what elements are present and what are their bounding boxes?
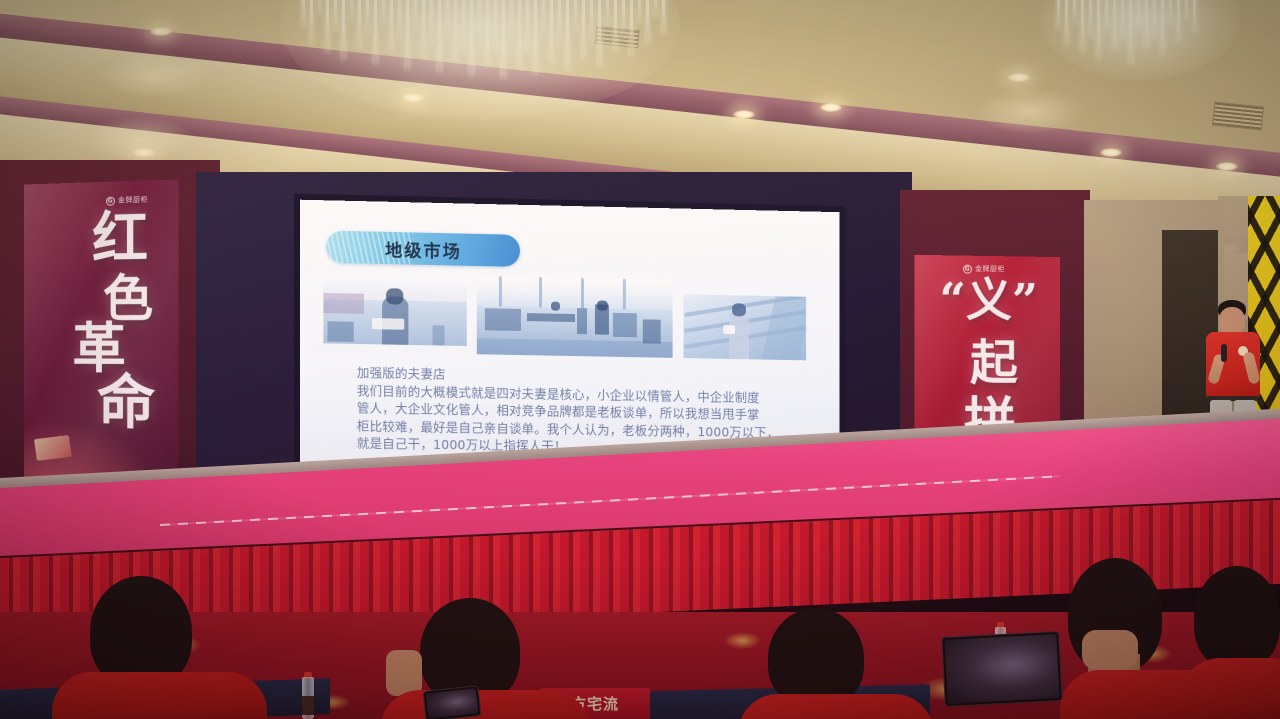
- audience-person-2: [380, 598, 590, 719]
- presentation-slide[interactable]: 地级市场: [300, 200, 840, 470]
- spot-glow-3: [975, 88, 1085, 134]
- audience-head: [768, 608, 864, 708]
- ceiling-spotlight-3: [733, 110, 755, 119]
- slide-title-badge: 地级市场: [326, 231, 520, 267]
- phone-screen: [426, 688, 478, 718]
- audience-head: [1194, 566, 1280, 670]
- air-vent-grille: [1212, 101, 1264, 130]
- audience-shirt: [52, 672, 267, 719]
- audience-person-1: [52, 576, 267, 719]
- audience-hand-holding-phone: [1082, 630, 1138, 670]
- slide-photo-woman-interior: [684, 294, 807, 360]
- water-bottle-1[interactable]: [300, 672, 316, 719]
- ceiling-spotlight-6: [1100, 148, 1122, 157]
- ceiling-spotlight-4: [820, 103, 842, 112]
- ceiling-spotlight-2: [133, 148, 155, 157]
- banner-left-calligraphy-1: 红: [80, 210, 160, 267]
- ceiling-spotlight-5: [1008, 73, 1030, 82]
- audience-shirt: [380, 690, 590, 719]
- banner-right-calligraphy-1: “义”: [939, 277, 1039, 323]
- banner-right-calligraphy-2: 起: [959, 340, 1029, 387]
- audience-shirt: [1180, 658, 1280, 719]
- ceiling-spotlight-7: [1216, 162, 1238, 171]
- slide-photo-man-with-tablet: [323, 281, 466, 346]
- audience-person-3: [738, 608, 934, 719]
- smartphone-secondary[interactable]: [423, 685, 482, 719]
- smartphone-recording[interactable]: [941, 631, 1063, 707]
- brand-logo-icon: G: [106, 196, 115, 205]
- banner-left: G 金牌厨柜 红 色 革 命: [24, 179, 179, 504]
- spot-glow-1: [100, 52, 210, 98]
- banner-left-flag-motif: [34, 435, 72, 461]
- conference-hall-scene: G 金牌厨柜 红 色 革 命 G 金牌厨柜 “义” 起 拼 地级市场: [0, 0, 1280, 719]
- slide-photo-open-office: [477, 276, 673, 358]
- presenter-head: [1219, 307, 1245, 335]
- phone-screen: [944, 634, 1059, 704]
- slide-title-text: 地级市场: [385, 235, 462, 262]
- presenter-microphone[interactable]: [1221, 344, 1227, 362]
- ceiling-spotlight-1: [150, 27, 172, 36]
- audience-person-5: [1180, 566, 1280, 719]
- bottle-label: [302, 696, 314, 715]
- audience-shirt: [738, 694, 934, 719]
